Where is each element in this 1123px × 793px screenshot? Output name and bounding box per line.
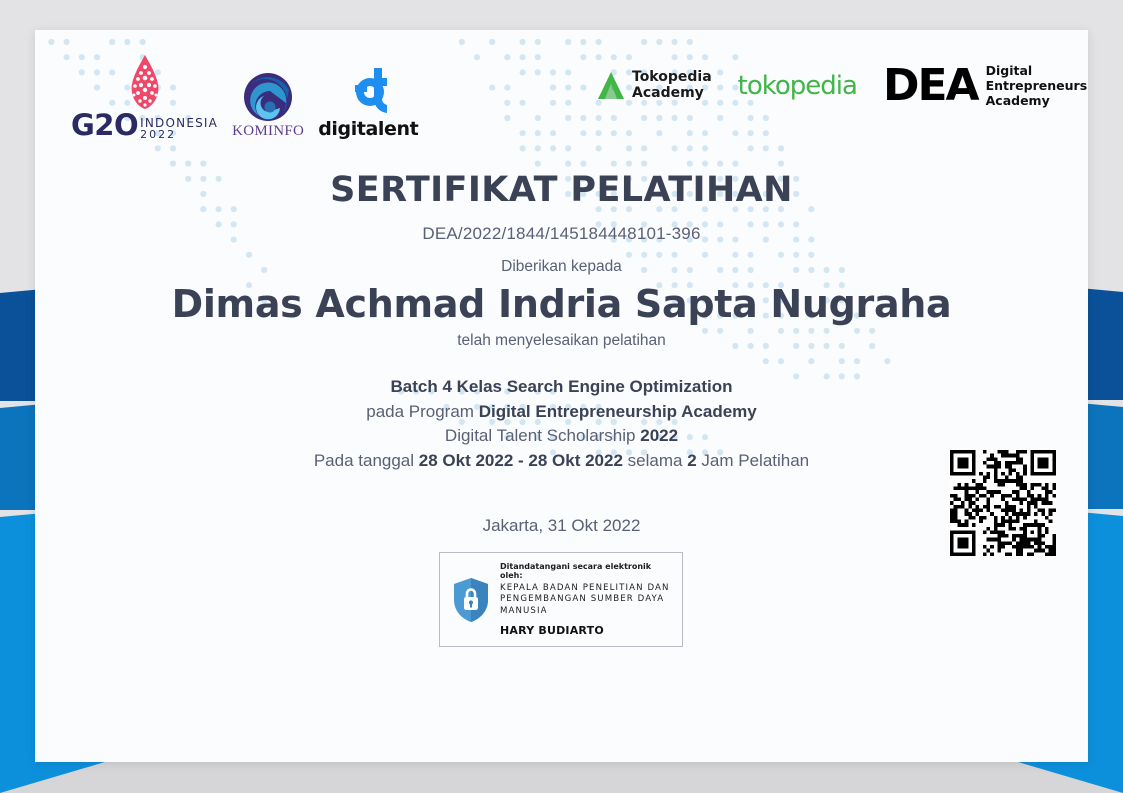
duration-unit: Jam Pelatihan: [701, 451, 809, 470]
given-to-label: Diberikan kepada: [35, 258, 1088, 276]
kominfo-wordmark: KOMINFO: [232, 123, 304, 140]
signed-label: Ditandatangani secara elektronik oleh:: [500, 562, 674, 580]
logo-group-left: G2O INDONESIA 2022: [71, 54, 418, 140]
dea-mark: DEA: [883, 66, 978, 106]
date-duration-line: Pada tanggal 28 Okt 2022 - 28 Okt 2022 s…: [35, 449, 1088, 474]
signer-organization: KEPALA BADAN PENELITIAN DAN PENGEMBANGAN…: [500, 583, 674, 618]
logo-group-right: Tokopedia Academy tokopedia DEA Digital …: [597, 64, 1088, 108]
date-prefix: Pada tanggal: [314, 451, 414, 470]
issued-place-date: Jakarta, 31 Okt 2022: [35, 516, 1088, 536]
g20-wordmark: G2O: [71, 112, 138, 140]
certificate-title: SERTIFIKAT PELATIHAN: [35, 170, 1088, 210]
scholarship-line: Digital Talent Scholarship 2022: [35, 424, 1088, 449]
g20-year: 2022: [140, 129, 218, 140]
logo-tokopedia-academy: Tokopedia Academy: [597, 70, 712, 101]
tokopedia-academy-line2: Academy: [632, 86, 712, 102]
dea-line2: Entrepreneurship: [986, 79, 1088, 94]
program-prefix: pada Program: [366, 402, 474, 421]
course-title-line: Batch 4 Kelas Search Engine Optimization: [35, 375, 1088, 400]
dea-line1: Digital: [986, 64, 1088, 79]
course-title: Batch 4 Kelas Search Engine Optimization: [391, 377, 733, 396]
logo-kominfo: KOMINFO: [232, 72, 304, 140]
dea-line3: Academy: [986, 94, 1088, 109]
shield-lock-icon: [452, 577, 490, 623]
duration-value: 2: [687, 451, 696, 470]
certificate-card: G2O INDONESIA 2022: [35, 30, 1088, 762]
g20-gunungan-icon: [117, 54, 173, 112]
certificate-number: DEA/2022/1844/145184448101-396: [35, 224, 1088, 244]
kominfo-spiral-icon: [237, 72, 299, 124]
duration-prefix: selama: [628, 451, 683, 470]
scholarship-year: 2022: [640, 426, 678, 445]
course-details: Batch 4 Kelas Search Engine Optimization…: [35, 375, 1088, 473]
tokopedia-academy-line1: Tokopedia: [632, 70, 712, 86]
logo-dea: DEA Digital Entrepreneurship Academy: [883, 64, 1088, 108]
scholarship-name: Digital Talent Scholarship: [445, 426, 636, 445]
qr-code-image: [950, 450, 1056, 556]
tokopedia-chevron-icon: [597, 71, 625, 101]
logo-row: G2O INDONESIA 2022: [35, 48, 1088, 143]
logo-g20: G2O INDONESIA 2022: [71, 54, 218, 140]
verification-qr-code[interactable]: [950, 450, 1056, 556]
electronic-signature-box: Ditandatangani secara elektronik oleh: K…: [439, 552, 683, 647]
signer-name: HARY BUDIARTO: [500, 624, 674, 637]
program-line: pada Program Digital Entrepreneurship Ac…: [35, 400, 1088, 425]
logo-digitalent: digitalent: [318, 65, 418, 140]
g20-country: INDONESIA: [140, 117, 218, 129]
recipient-name: Dimas Achmad Indria Sapta Nugraha: [35, 282, 1088, 326]
digitalent-wordmark: digitalent: [318, 118, 418, 140]
logo-tokopedia-wordmark: tokopedia: [738, 71, 857, 101]
date-range: 28 Okt 2022 - 28 Okt 2022: [419, 451, 623, 470]
completed-label: telah menyelesaikan pelatihan: [35, 332, 1088, 350]
digitalent-dt-icon: [346, 65, 390, 117]
program-name: Digital Entrepreneurship Academy: [479, 402, 757, 421]
